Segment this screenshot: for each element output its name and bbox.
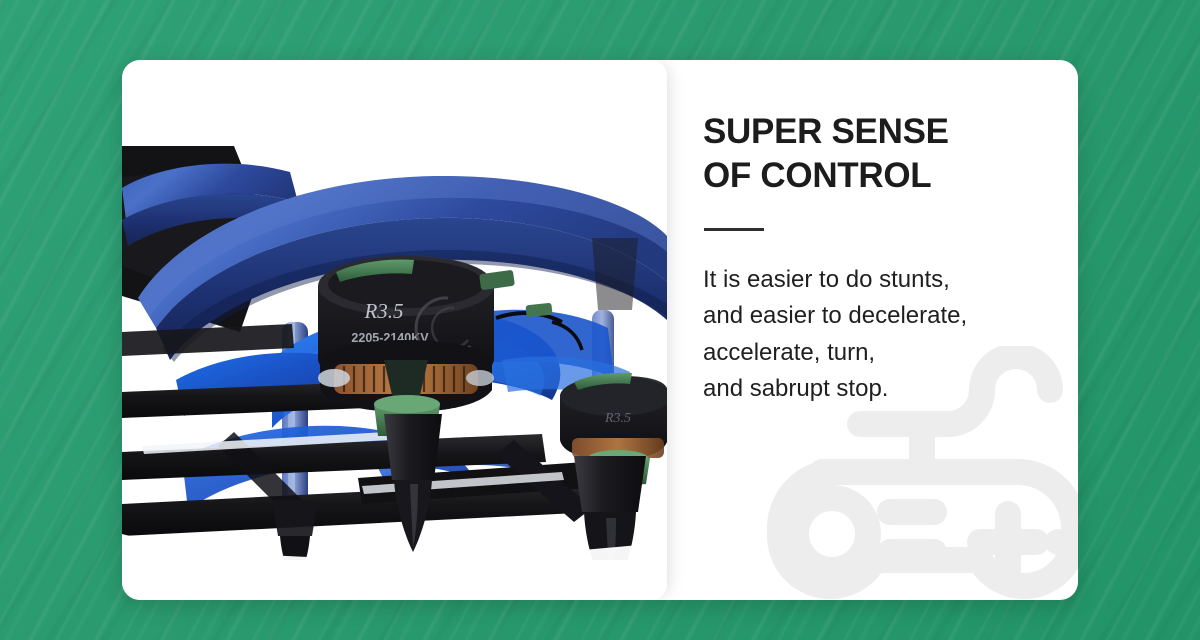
motor-2-label-text: R3.5 [604, 411, 631, 426]
body-description: It is easier to do stunts, and easier to… [703, 262, 1068, 408]
text-column: SUPER SENSE OF CONTROL It is easier to d… [703, 60, 1078, 600]
content-card: R3.5 2205-2140KV [122, 60, 1078, 600]
promo-banner: R3.5 2205-2140KV [0, 0, 1200, 640]
page-title: SUPER SENSE OF CONTROL [703, 110, 1063, 198]
motor-model-text: R3.5 [363, 299, 403, 323]
drone-product-photo: R3.5 2205-2140KV [122, 60, 667, 600]
title-divider [704, 228, 764, 231]
